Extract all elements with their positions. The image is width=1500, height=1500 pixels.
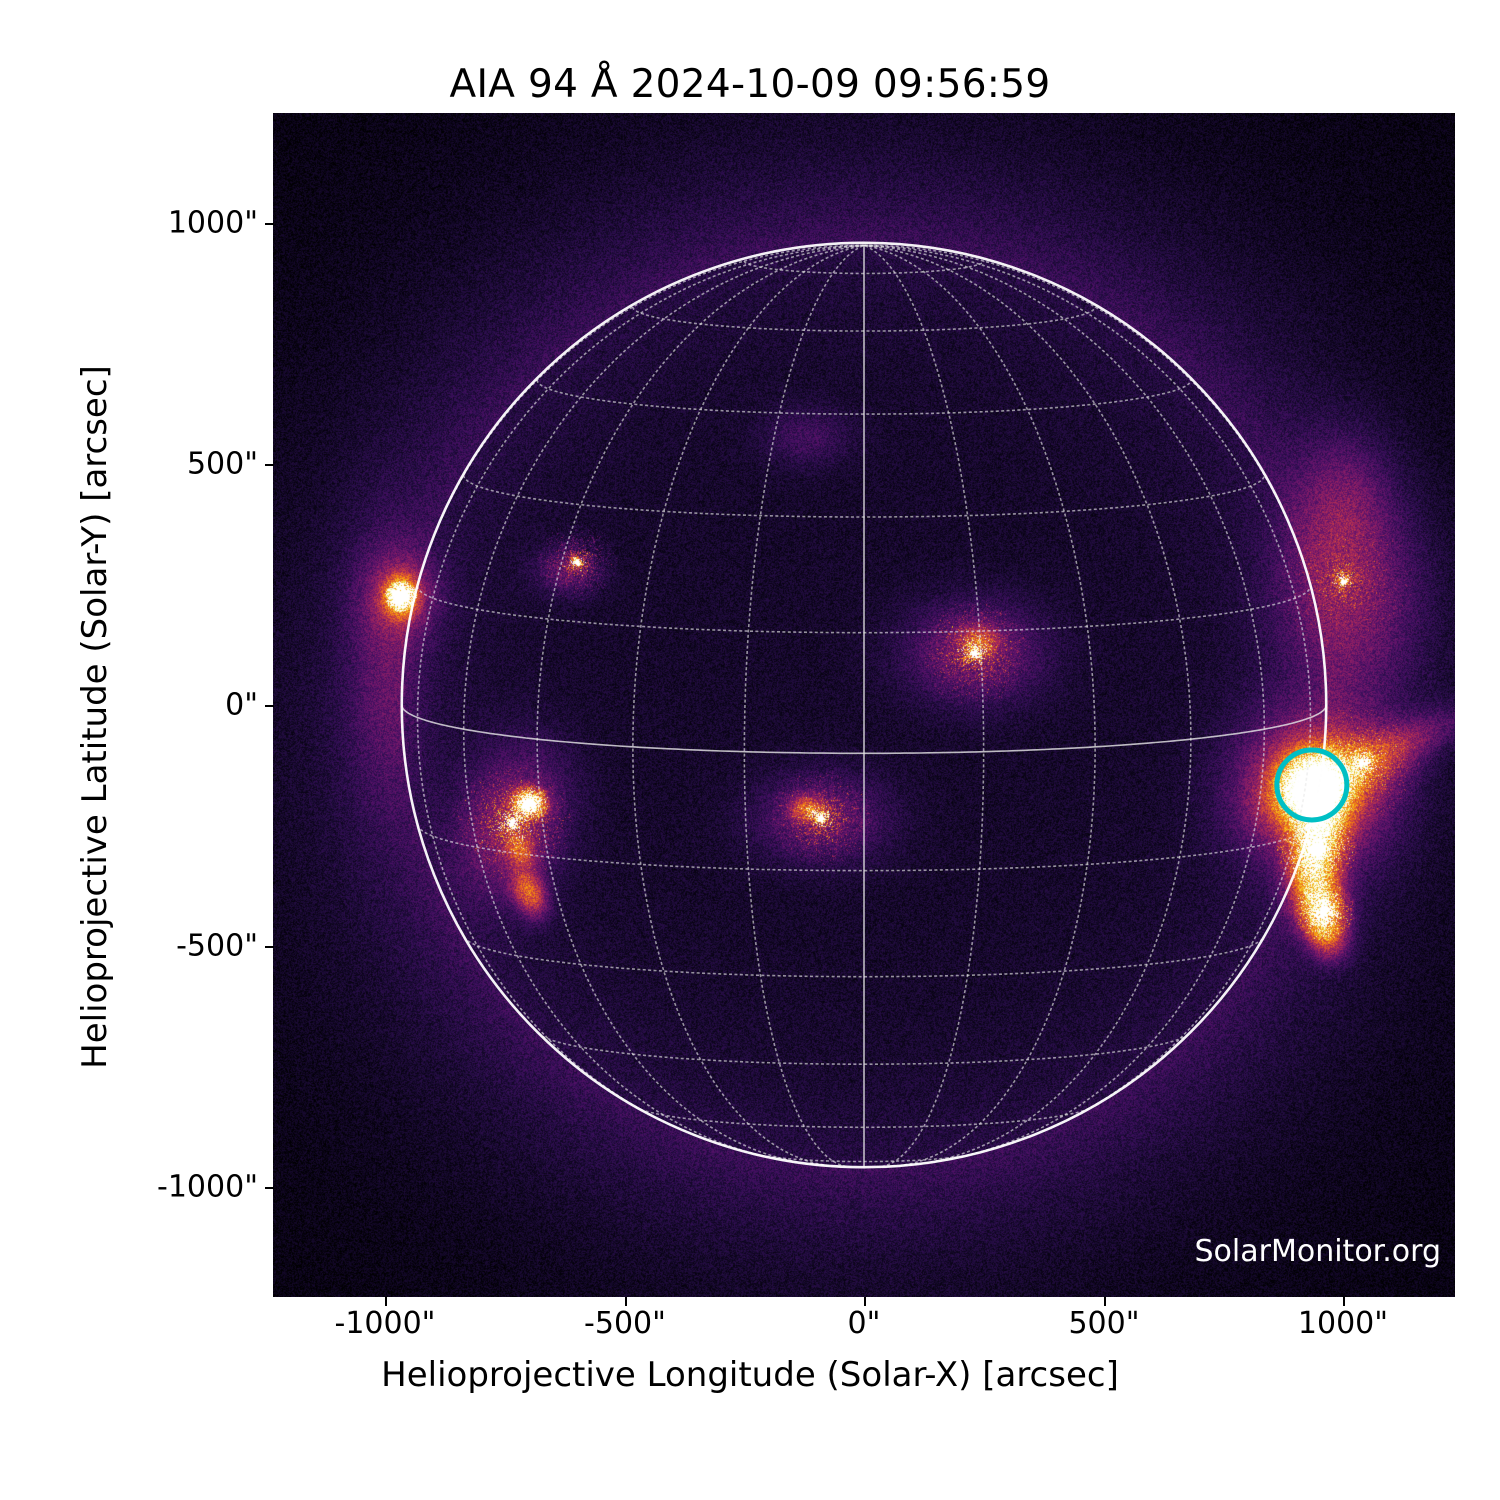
ytick-mark-1000	[265, 223, 274, 225]
xtick-label-m1000: -1000"	[335, 1306, 436, 1341]
ytick-mark-m500	[265, 946, 274, 948]
annotation-overlay	[273, 113, 1455, 1297]
ytick-label-1000: 1000"	[168, 206, 258, 241]
xtick-mark-0	[864, 1297, 866, 1306]
xtick-mark-1000	[1343, 1297, 1345, 1306]
solar-image-plot-area: SolarMonitor.org	[273, 113, 1455, 1297]
ytick-label-m500: -500"	[176, 929, 258, 964]
xtick-mark-500	[1104, 1297, 1106, 1306]
ytick-mark-m1000	[265, 1187, 274, 1189]
ytick-label-500: 500"	[187, 447, 258, 482]
ytick-mark-0	[265, 705, 274, 707]
ytick-label-0: 0"	[225, 688, 258, 723]
xtick-mark-m500	[625, 1297, 627, 1306]
xtick-label-0: 0"	[848, 1306, 881, 1341]
x-axis-label: Helioprojective Longitude (Solar-X) [arc…	[0, 1355, 1500, 1395]
watermark-label: SolarMonitor.org	[1195, 1234, 1441, 1269]
y-axis-ticks: 1000" 500" 0" -500" -1000"	[0, 0, 258, 1500]
solar-image-figure: AIA 94 Å 2024-10-09 09:56:59 SolarMonito…	[0, 0, 1500, 1500]
ytick-mark-500	[265, 464, 274, 466]
xtick-label-m500: -500"	[584, 1306, 666, 1341]
active-region-marker[interactable]	[1277, 750, 1347, 820]
xtick-mark-m1000	[385, 1297, 387, 1306]
xtick-label-500: 500"	[1068, 1306, 1139, 1341]
xtick-label-1000: 1000"	[1298, 1306, 1388, 1341]
ytick-label-m1000: -1000"	[157, 1170, 258, 1205]
y-axis-label: Helioprojective Latitude (Solar-Y) [arcs…	[75, 217, 115, 1217]
